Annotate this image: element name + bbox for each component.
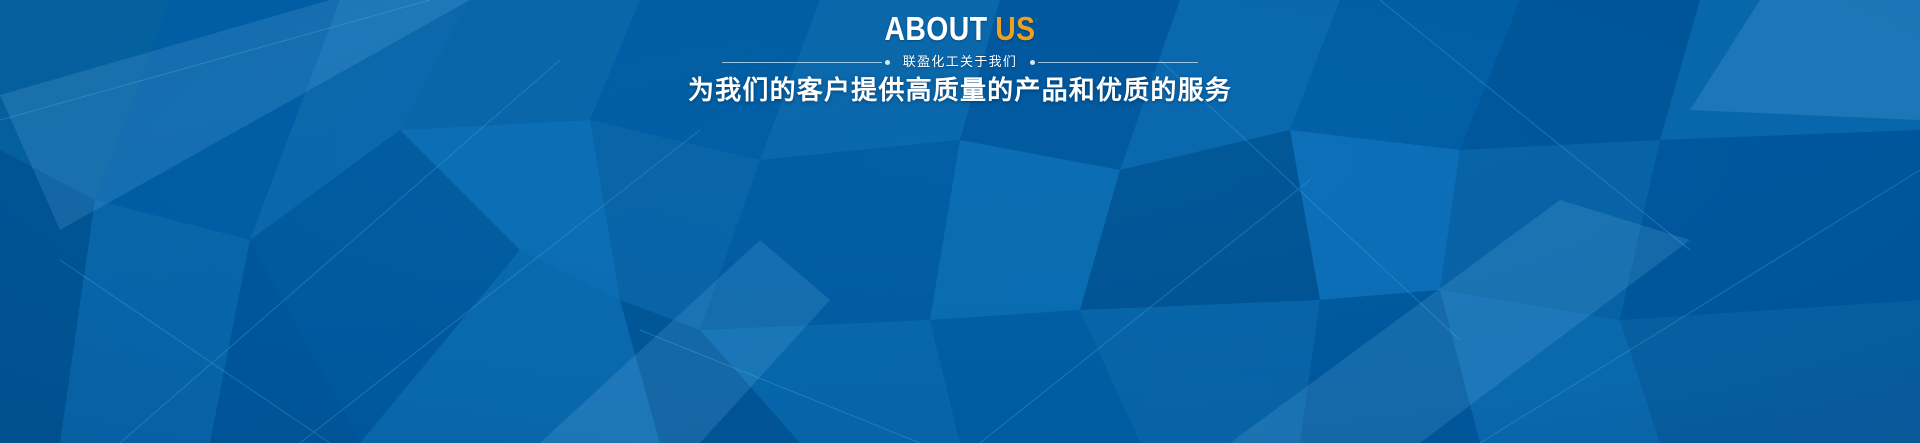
subtitle-row: 联盈化工关于我们 — [0, 53, 1920, 71]
page-title-accent: US — [995, 10, 1035, 47]
page-subtitle: 联盈化工关于我们 — [903, 54, 1017, 70]
about-us-banner: ABOUTUS 联盈化工关于我们 为我们的客户提供高质量的产品和优质的服务 — [0, 0, 1920, 443]
divider-dot-left — [885, 60, 890, 65]
divider-dot-right — [1030, 60, 1035, 65]
divider-line-left — [722, 62, 882, 63]
page-headline: 为我们的客户提供高质量的产品和优质的服务 — [0, 74, 1920, 106]
page-title: ABOUTUS — [134, 0, 1785, 47]
banner-content: ABOUTUS 联盈化工关于我们 为我们的客户提供高质量的产品和优质的服务 — [0, 0, 1920, 106]
page-title-primary: ABOUT — [884, 10, 987, 47]
divider-line-right — [1038, 62, 1198, 63]
